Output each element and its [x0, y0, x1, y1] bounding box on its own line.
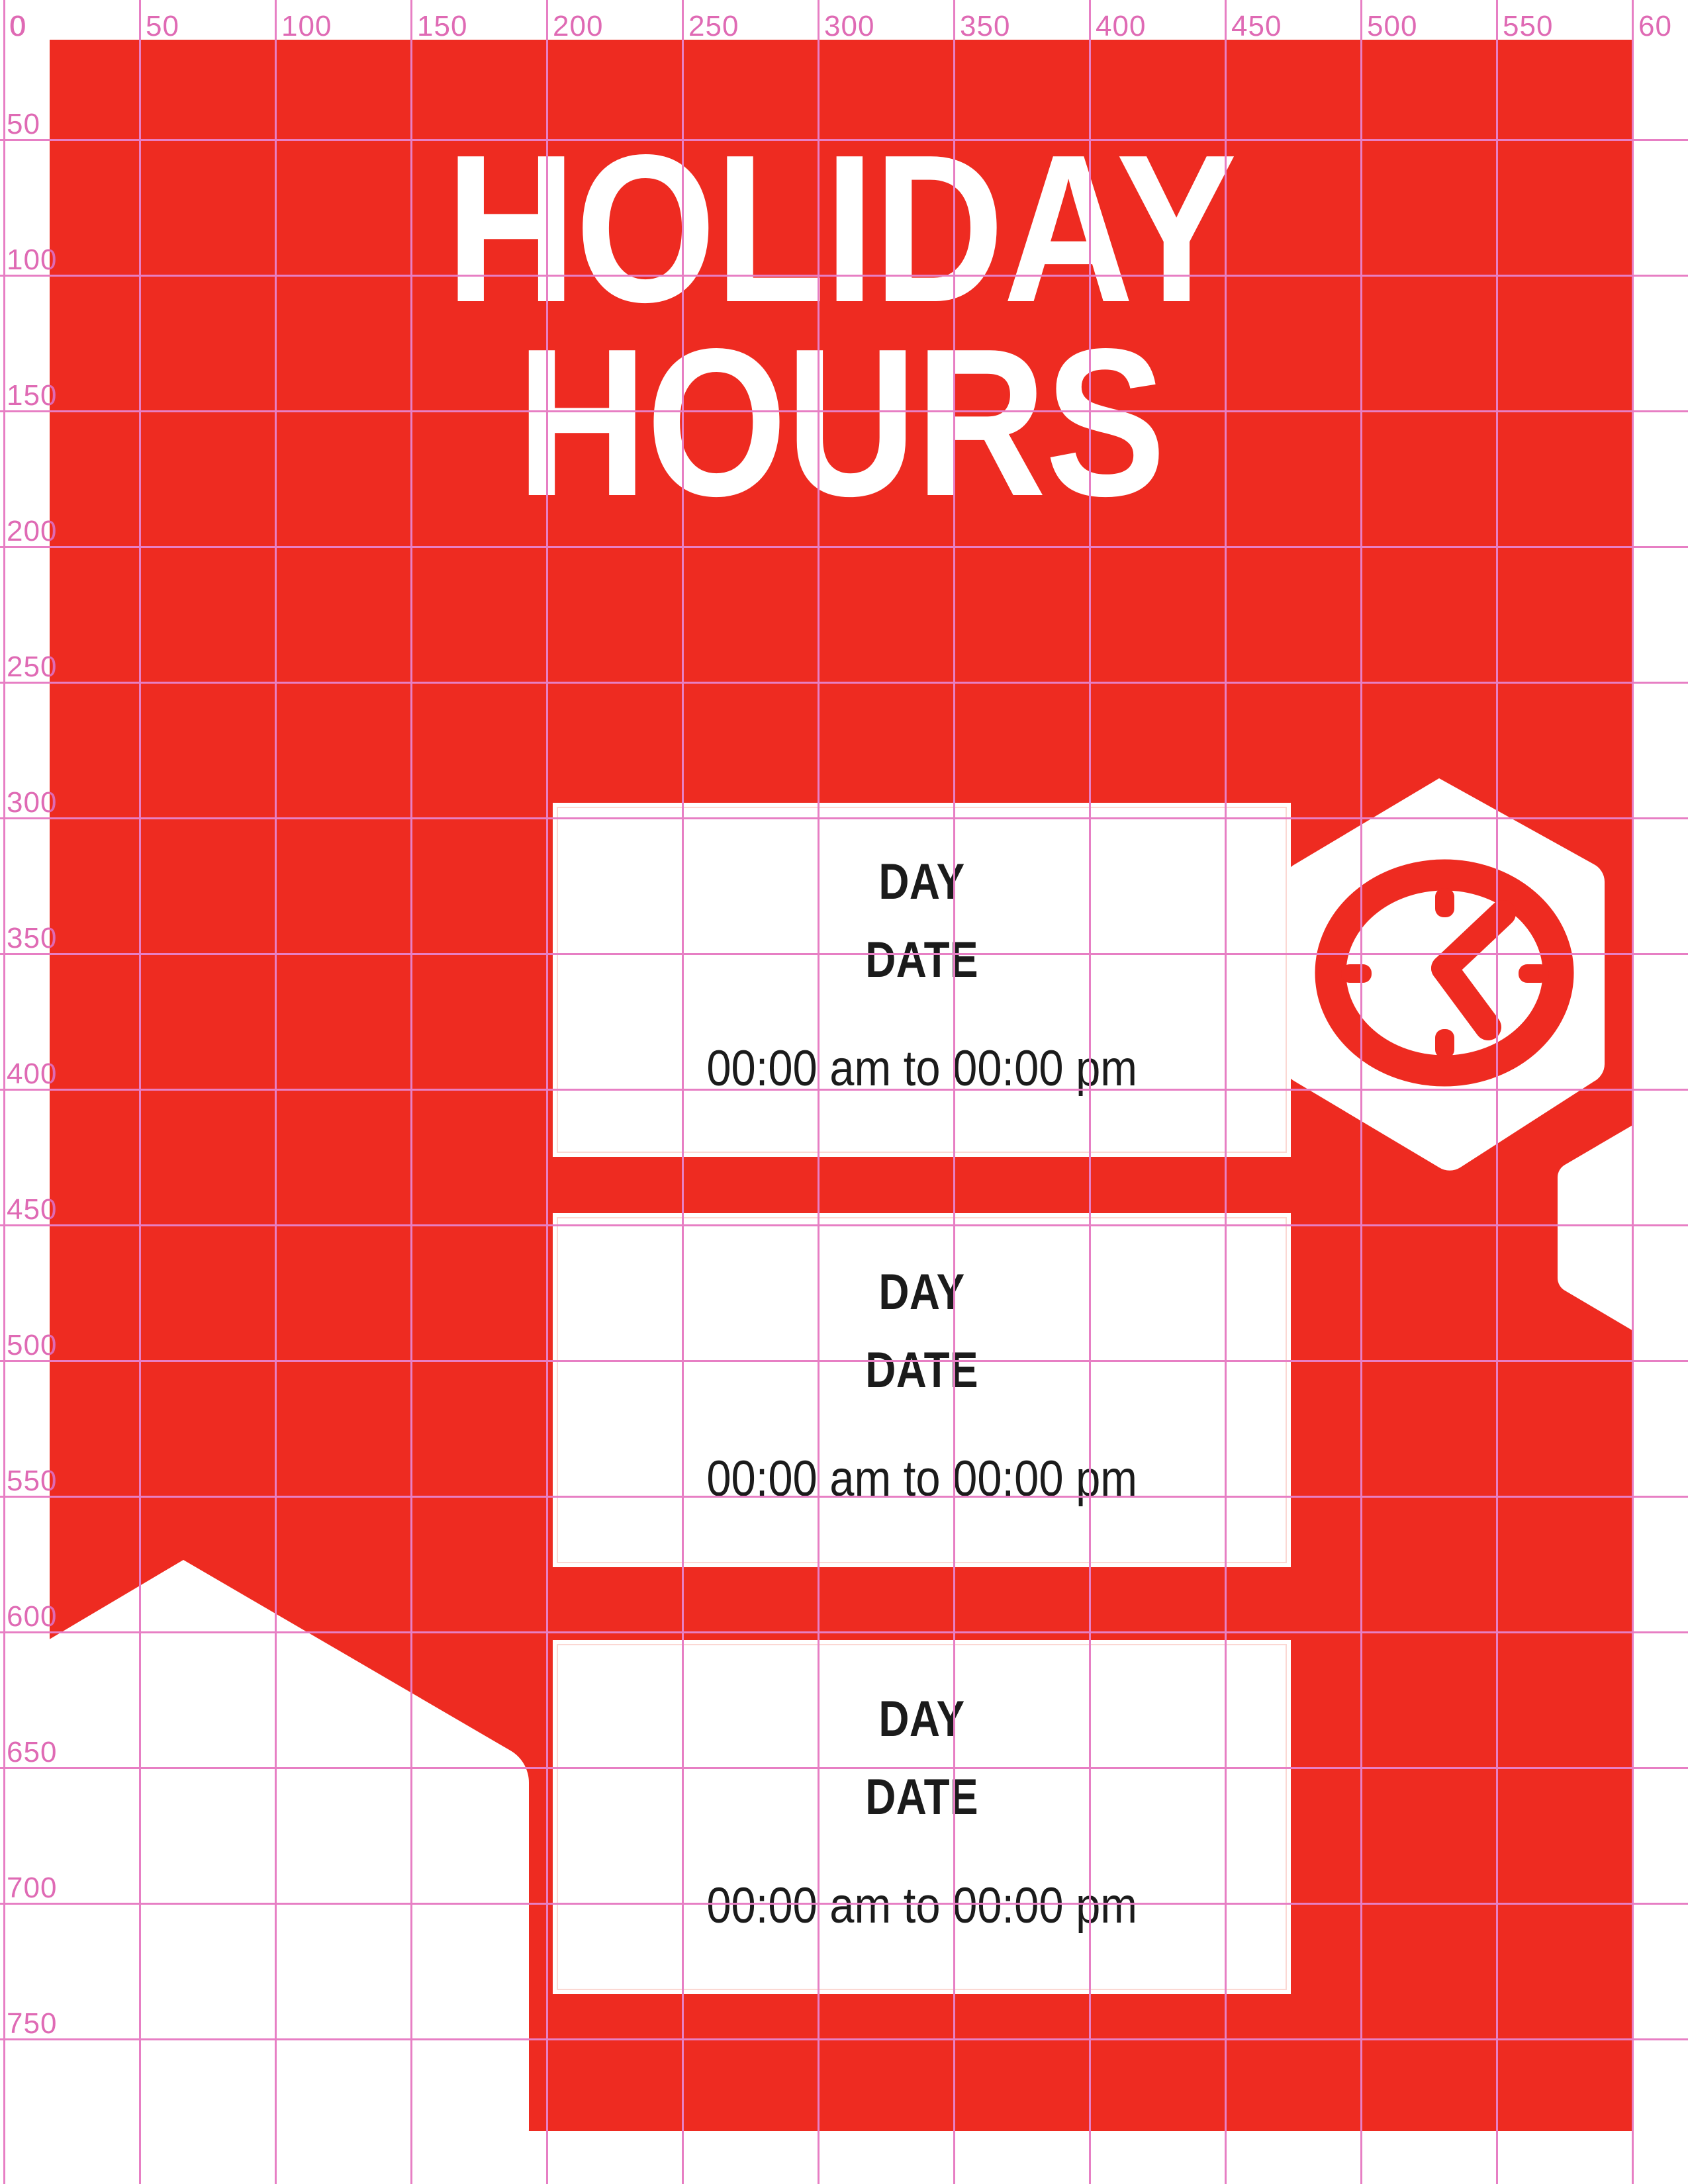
- ruler-label-x: 200: [553, 12, 603, 41]
- ruler-label-x: 350: [960, 12, 1010, 41]
- schedule-date-label: DATE: [865, 935, 978, 985]
- ruler-label-y: 50: [7, 110, 40, 139]
- large-hexagon-shape: [50, 1552, 546, 2131]
- schedule-hours-label: 00:00 am to 00:00 pm: [706, 1881, 1137, 1931]
- ruler-label-x: 500: [1367, 12, 1417, 41]
- schedule-day-label: DAY: [878, 857, 964, 907]
- schedule-day-label: DAY: [878, 1267, 964, 1318]
- schedule-card-inner: DAY DATE 00:00 am to 00:00 pm: [557, 1644, 1287, 1990]
- page-title: HOLIDAY HOURS: [50, 132, 1632, 520]
- schedule-card[interactable]: DAY DATE 00:00 am to 00:00 pm: [553, 803, 1291, 1157]
- schedule-date-label: DATE: [865, 1772, 978, 1823]
- ruler-label-origin: 0: [9, 12, 26, 41]
- ruler-label-x: 250: [688, 12, 739, 41]
- ruler-label-x: 0: [10, 12, 26, 41]
- ruler-label-x: 60: [1638, 12, 1672, 41]
- ruler-label-x: 300: [824, 12, 874, 41]
- poster-red-panel: HOLIDAY HOURS: [50, 40, 1632, 2131]
- ruler-label-x: 550: [1503, 12, 1553, 41]
- schedule-day-label: DAY: [878, 1694, 964, 1745]
- title-line-holiday: HOLIDAY: [160, 132, 1521, 326]
- ruler-gridline-vertical: [3, 0, 5, 2184]
- small-hexagon-shape: [1554, 1112, 1632, 1343]
- schedule-card[interactable]: DAY DATE 00:00 am to 00:00 pm: [553, 1640, 1291, 1994]
- title-line-hours: HOURS: [160, 326, 1521, 520]
- ruler-label-x: 400: [1096, 12, 1146, 41]
- schedule-card-inner: DAY DATE 00:00 am to 00:00 pm: [557, 807, 1287, 1153]
- ruler-label-x: 450: [1231, 12, 1282, 41]
- schedule-card[interactable]: DAY DATE 00:00 am to 00:00 pm: [553, 1213, 1291, 1567]
- ruler-label-x: 150: [417, 12, 467, 41]
- schedule-hours-label: 00:00 am to 00:00 pm: [706, 1044, 1137, 1094]
- poster-canvas: HOLIDAY HOURS: [0, 0, 1688, 2184]
- schedule-card-inner: DAY DATE 00:00 am to 00:00 pm: [557, 1217, 1287, 1563]
- schedule-hours-label: 00:00 am to 00:00 pm: [706, 1454, 1137, 1504]
- schedule-date-label: DATE: [865, 1345, 978, 1396]
- ruler-label-x: 100: [281, 12, 332, 41]
- ruler-label-x: 50: [146, 12, 179, 41]
- ruler-gridline-vertical: [1632, 0, 1634, 2184]
